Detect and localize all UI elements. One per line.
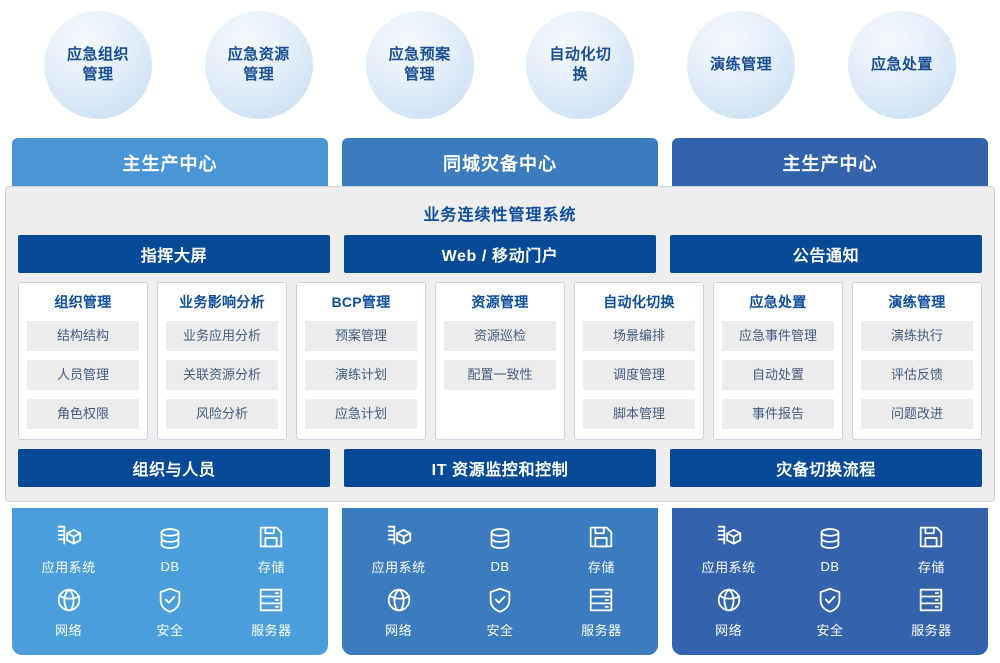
infra-item-application-system[interactable]: 应用系统 [702,522,756,576]
infra-item-network[interactable]: 网络 [54,585,84,639]
module-card-row: 组织管理 结构结构 人员管理 角色权限 业务影响分析 业务应用分析 关联资源分析… [18,282,982,440]
infra-item-label: 安全 [156,620,183,639]
module-item[interactable]: 资源巡检 [444,321,556,351]
infra-item-storage[interactable]: 存储 [586,522,616,576]
business-continuity-system-panel: 业务连续性管理系统 指挥大屏 Web / 移动门户 公告通知 组织管理 结构结构… [5,186,995,502]
infra-item-label: 存储 [918,557,945,576]
infra-item-label: 网络 [385,620,412,639]
module-item[interactable]: 调度管理 [583,360,695,390]
infra-item-label: 应用系统 [702,557,756,576]
band-command-dashboard[interactable]: 指挥大屏 [18,235,330,273]
module-item[interactable]: 演练执行 [861,321,973,351]
module-item[interactable]: 关联资源分析 [166,360,278,390]
band-web-mobile-portal[interactable]: Web / 移动门户 [344,235,656,273]
module-card-org-management[interactable]: 组织管理 结构结构 人员管理 角色权限 [18,282,148,440]
capability-bubble-row: 应急组织 管理 应急资源 管理 应急预案 管理 自动化切换 演练管理 应急处置 [0,0,1000,130]
infra-item-label: 服务器 [581,620,622,639]
system-top-band-row: 指挥大屏 Web / 移动门户 公告通知 [18,235,982,273]
capability-bubble-emergency-org[interactable]: 应急组织 管理 [44,11,152,119]
module-item[interactable]: 应急计划 [305,399,417,429]
shield-check-icon [155,585,185,615]
application-system-icon [384,522,414,552]
infra-item-database[interactable]: DB [155,524,185,574]
module-item[interactable]: 配置一致性 [444,360,556,390]
capability-bubble-drill-management[interactable]: 演练管理 [687,11,795,119]
network-globe-icon [54,585,84,615]
infra-item-storage[interactable]: 存储 [916,522,946,576]
shield-check-icon [485,585,515,615]
module-item[interactable]: 预案管理 [305,321,417,351]
infra-item-label: DB [490,559,509,574]
application-system-icon [714,522,744,552]
infra-item-network[interactable]: 网络 [714,585,744,639]
datacenter-header-label: 主生产中心 [783,150,878,176]
infra-item-label: 服务器 [911,620,952,639]
band-label: Web / 移动门户 [442,242,559,266]
infra-item-label: 存储 [258,557,285,576]
capability-bubble-automated-switch[interactable]: 自动化切换 [526,11,634,119]
database-icon [155,524,185,554]
band-label: 组织与人员 [132,456,215,480]
module-card-title: 资源管理 [444,292,556,312]
module-card-title: 演练管理 [861,292,973,312]
infra-item-security[interactable]: 安全 [155,585,185,639]
capability-bubble-line1: 演练管理 [702,55,780,75]
module-item[interactable]: 应急事件管理 [722,321,834,351]
module-card-title: BCP管理 [305,292,417,312]
module-item[interactable]: 事件报告 [722,399,834,429]
module-item[interactable]: 问题改进 [861,399,973,429]
band-org-and-personnel[interactable]: 组织与人员 [18,449,330,487]
infra-item-label: 存储 [588,557,615,576]
band-label: 灾备切换流程 [776,456,876,480]
band-announcement[interactable]: 公告通知 [670,235,982,273]
capability-bubble-line1: 应急处置 [863,55,941,75]
infra-item-label: DB [820,559,839,574]
module-item[interactable]: 自动处置 [722,360,834,390]
module-card-emergency-response[interactable]: 应急处置 应急事件管理 自动处置 事件报告 [713,282,843,440]
band-dr-switch-process[interactable]: 灾备切换流程 [670,449,982,487]
infra-item-label: 应用系统 [372,557,426,576]
module-item[interactable]: 风险分析 [166,399,278,429]
module-item[interactable]: 结构结构 [27,321,139,351]
database-icon [485,524,515,554]
infra-item-server[interactable]: 服务器 [581,585,622,639]
band-label: 指挥大屏 [141,242,207,266]
infra-item-label: 安全 [816,620,843,639]
infrastructure-panel-row: 应用系统 DB 存储 [12,508,988,655]
datacenter-header-label: 同城灾备中心 [443,150,557,176]
server-rack-icon [256,585,286,615]
infra-item-label: DB [160,559,179,574]
module-card-drill-management[interactable]: 演练管理 演练执行 评估反馈 问题改进 [852,282,982,440]
module-card-bcp-management[interactable]: BCP管理 预案管理 演练计划 应急计划 [296,282,426,440]
module-card-title: 业务影响分析 [166,292,278,312]
infra-item-label: 服务器 [251,620,292,639]
infra-item-server[interactable]: 服务器 [251,585,292,639]
module-item[interactable]: 评估反馈 [861,360,973,390]
infra-item-label: 应用系统 [42,557,96,576]
module-item[interactable]: 角色权限 [27,399,139,429]
infra-item-application-system[interactable]: 应用系统 [372,522,426,576]
infra-item-network[interactable]: 网络 [384,585,414,639]
database-icon [815,524,845,554]
module-item[interactable]: 场景编排 [583,321,695,351]
server-rack-icon [586,585,616,615]
infrastructure-panel-primary-right: 应用系统 DB 存储 [672,508,988,655]
network-globe-icon [384,585,414,615]
shield-check-icon [815,585,845,615]
capability-bubble-line2: 管理 [381,65,459,85]
module-item[interactable]: 脚本管理 [583,399,695,429]
capability-bubble-emergency-resource[interactable]: 应急资源 管理 [205,11,313,119]
module-card-automated-switch[interactable]: 自动化切换 场景编排 调度管理 脚本管理 [574,282,704,440]
system-panel-title: 业务连续性管理系统 [18,195,982,235]
module-card-resource-management[interactable]: 资源管理 资源巡检 配置一致性 [435,282,565,440]
capability-bubble-emergency-plan[interactable]: 应急预案 管理 [366,11,474,119]
capability-bubble-line2: 管理 [220,65,298,85]
module-card-title: 自动化切换 [583,292,695,312]
infra-item-security[interactable]: 安全 [815,585,845,639]
infrastructure-panel-metro-dr: 应用系统 DB 存储 [342,508,658,655]
capability-bubble-line1: 应急资源 [220,45,298,65]
module-card-title: 组织管理 [27,292,139,312]
module-card-business-impact-analysis[interactable]: 业务影响分析 业务应用分析 关联资源分析 风险分析 [157,282,287,440]
infra-item-application-system[interactable]: 应用系统 [42,522,96,576]
storage-icon [256,522,286,552]
infrastructure-panel-primary-left: 应用系统 DB 存储 [12,508,328,655]
system-bottom-band-row: 组织与人员 IT 资源监控和控制 灾备切换流程 [18,449,982,487]
capability-bubble-line2: 管理 [59,65,137,85]
infra-item-storage[interactable]: 存储 [256,522,286,576]
module-card-title: 应急处置 [722,292,834,312]
network-globe-icon [714,585,744,615]
capability-bubble-line1: 自动化切换 [534,45,626,86]
datacenter-header-label: 主生产中心 [123,150,218,176]
storage-icon [586,522,616,552]
band-label: 公告通知 [793,242,859,266]
infra-item-label: 安全 [486,620,513,639]
module-item[interactable]: 人员管理 [27,360,139,390]
capability-bubble-line1: 应急预案 [381,45,459,65]
infra-item-server[interactable]: 服务器 [911,585,952,639]
capability-bubble-emergency-response[interactable]: 应急处置 [848,11,956,119]
capability-bubble-line1: 应急组织 [59,45,137,65]
infra-item-security[interactable]: 安全 [485,585,515,639]
module-item[interactable]: 业务应用分析 [166,321,278,351]
application-system-icon [54,522,84,552]
module-item[interactable]: 演练计划 [305,360,417,390]
storage-icon [916,522,946,552]
band-it-resource-monitoring[interactable]: IT 资源监控和控制 [344,449,656,487]
server-rack-icon [916,585,946,615]
band-label: IT 资源监控和控制 [432,456,569,480]
infra-item-label: 网络 [55,620,82,639]
infra-item-label: 网络 [715,620,742,639]
infra-item-database[interactable]: DB [815,524,845,574]
infra-item-database[interactable]: DB [485,524,515,574]
